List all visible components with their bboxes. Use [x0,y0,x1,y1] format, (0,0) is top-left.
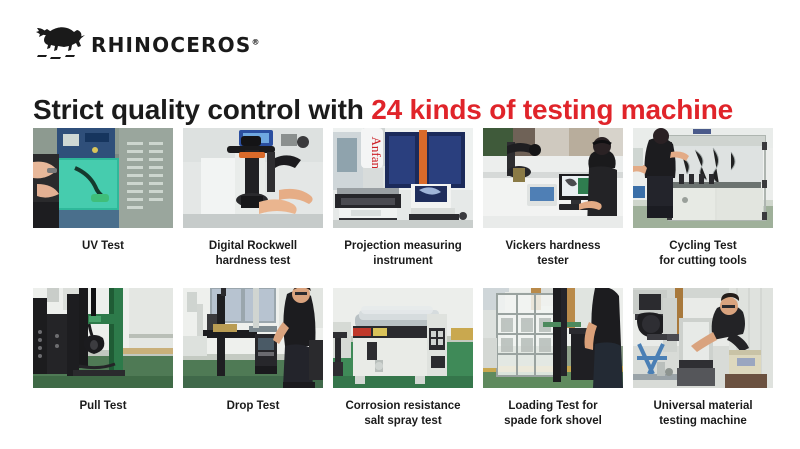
brand-wordmark: RHINOCEROS® [91,35,259,55]
gallery-item-caption: Drop Test [227,399,280,414]
gallery-item-caption: Pull Test [79,399,126,414]
gallery-item[interactable]: UV Test [33,128,173,268]
gallery-item[interactable]: Universal material testing machine [633,288,773,428]
gallery-item[interactable]: Digital Rockwell hardness test [183,128,323,268]
gallery-item[interactable]: Drop Test [183,288,323,428]
gallery-item[interactable]: Anfang Projection measuring instrument [333,128,473,268]
loading-test-rack-photo [483,288,623,388]
gallery-row-2: Pull Test [33,288,773,428]
gallery-row-1: UV Test [33,128,773,268]
salt-spray-test-chamber-photo [333,288,473,388]
page-title-accent: 24 kinds of testing machine [371,94,733,125]
gallery-item-caption: Universal material testing machine [653,399,752,428]
gallery-item[interactable]: Pull Test [33,288,173,428]
rhinoceros-logo-icon [33,22,89,62]
gallery-item[interactable]: Loading Test for spade fork shovel [483,288,623,428]
drop-test-machine-photo [183,288,323,388]
gallery-item-caption: UV Test [82,239,124,254]
brand-logo: RHINOCEROS® [33,20,259,64]
vickers-hardness-tester-photo [483,128,623,228]
gallery-item[interactable]: Corrosion resistance salt spray test [333,288,473,428]
projection-measuring-instrument-photo: Anfang [333,128,473,228]
gallery-item-caption: Vickers hardness tester [505,239,600,268]
uv-test-chamber-photo [33,128,173,228]
registered-mark: ® [251,37,259,46]
page-title-lead: Strict quality control with [33,94,371,125]
gallery-item[interactable]: Cycling Test for cutting tools [633,128,773,268]
gallery-item-caption: Loading Test for spade fork shovel [504,399,602,428]
gallery-item[interactable]: Vickers hardness tester [483,128,623,268]
gallery-item-caption: Corrosion resistance salt spray test [345,399,460,428]
gallery-item-caption: Digital Rockwell hardness test [209,239,297,268]
brand-wordmark-text: RHINOCEROS [91,33,251,57]
gallery-item-caption: Projection measuring instrument [344,239,462,268]
gallery-item-caption: Cycling Test for cutting tools [659,239,747,268]
universal-material-testing-machine-photo [633,288,773,388]
pull-test-machine-photo [33,288,173,388]
digital-rockwell-hardness-tester-photo [183,128,323,228]
page-title: Strict quality control with 24 kinds of … [33,93,773,127]
cycling-test-machine-photo [633,128,773,228]
